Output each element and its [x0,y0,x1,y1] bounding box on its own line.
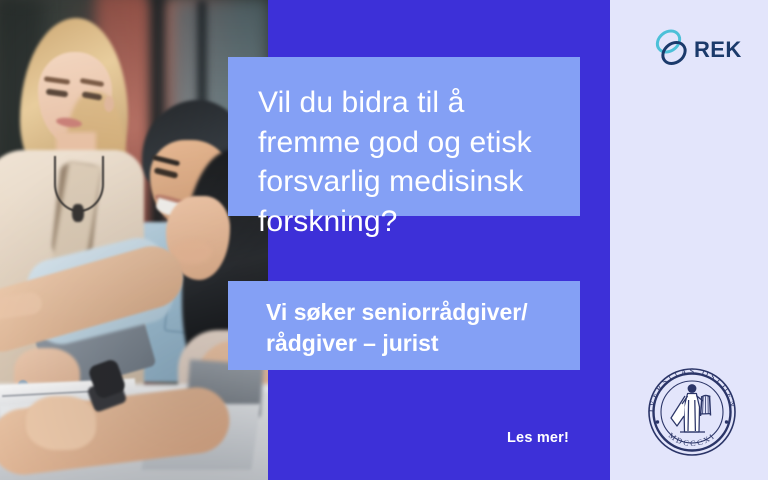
rek-wordmark: REK [694,39,742,61]
read-more-link[interactable]: Les mer! [507,430,569,446]
apollo-with-lyre-icon [671,384,711,432]
job-role-box: Vi søker seniorrådgiver/ rådgiver – juri… [228,281,580,370]
job-role-title: Vi søker seniorrådgiver/ rådgiver – juri… [266,297,560,358]
rek-interlocking-rings-icon [652,27,692,74]
page-title: Vil du bidra til å fremme god og etisk f… [258,83,554,241]
uio-seal: UNIVERSITAS OSLOENSIS MDCCCXI [640,360,744,464]
recruitment-banner: Vil du bidra til å fremme god og etisk f… [0,0,768,480]
rek-logo[interactable]: REK [652,28,738,72]
headline-box: Vil du bidra til å fremme god og etisk f… [228,57,580,216]
